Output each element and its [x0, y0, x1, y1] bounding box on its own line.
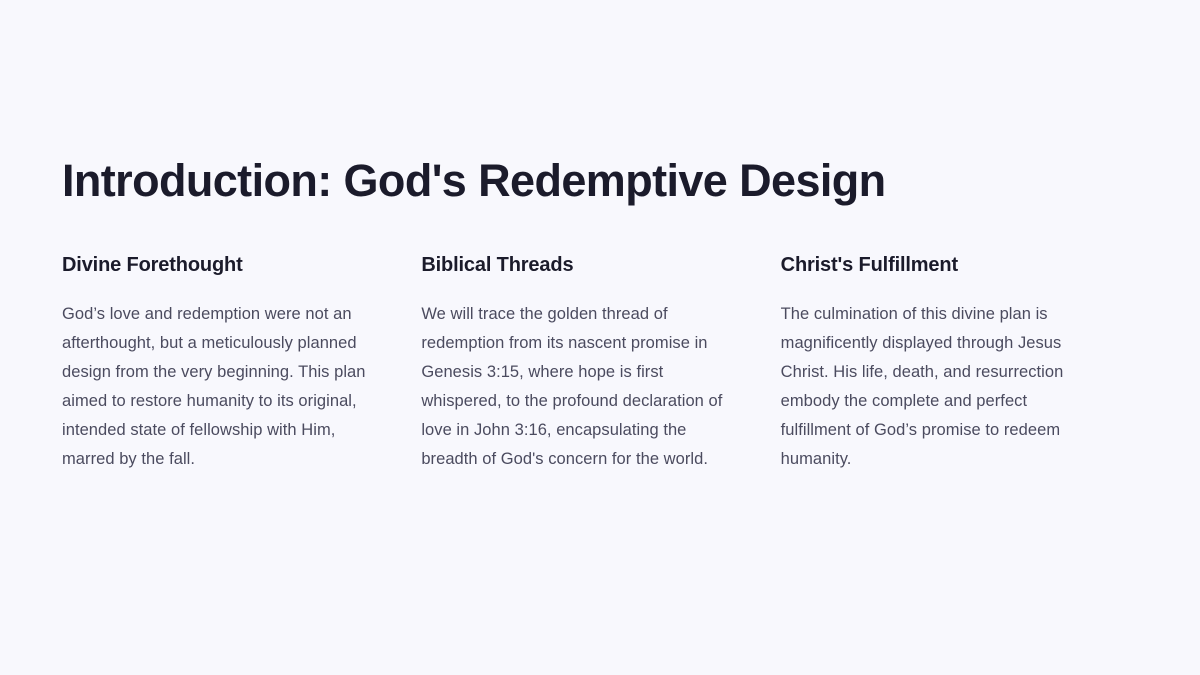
column-christs-fulfillment: Christ's Fulfillment The culmination of …	[781, 252, 1140, 474]
column-biblical-threads: Biblical Threads We will trace the golde…	[421, 252, 780, 474]
column-divine-forethought: Divine Forethought God’s love and redemp…	[62, 252, 421, 474]
column-body-text: God’s love and redemption were not an af…	[62, 300, 371, 474]
column-heading: Biblical Threads	[421, 252, 730, 278]
column-heading: Divine Forethought	[62, 252, 371, 278]
page-title: Introduction: God's Redemptive Design	[62, 152, 886, 210]
column-group: Divine Forethought God’s love and redemp…	[62, 252, 1140, 474]
slide-canvas: Introduction: God's Redemptive Design Di…	[0, 0, 1200, 675]
column-body-text: The culmination of this divine plan is m…	[781, 300, 1090, 474]
column-heading: Christ's Fulfillment	[781, 252, 1090, 278]
column-body-text: We will trace the golden thread of redem…	[421, 300, 730, 474]
